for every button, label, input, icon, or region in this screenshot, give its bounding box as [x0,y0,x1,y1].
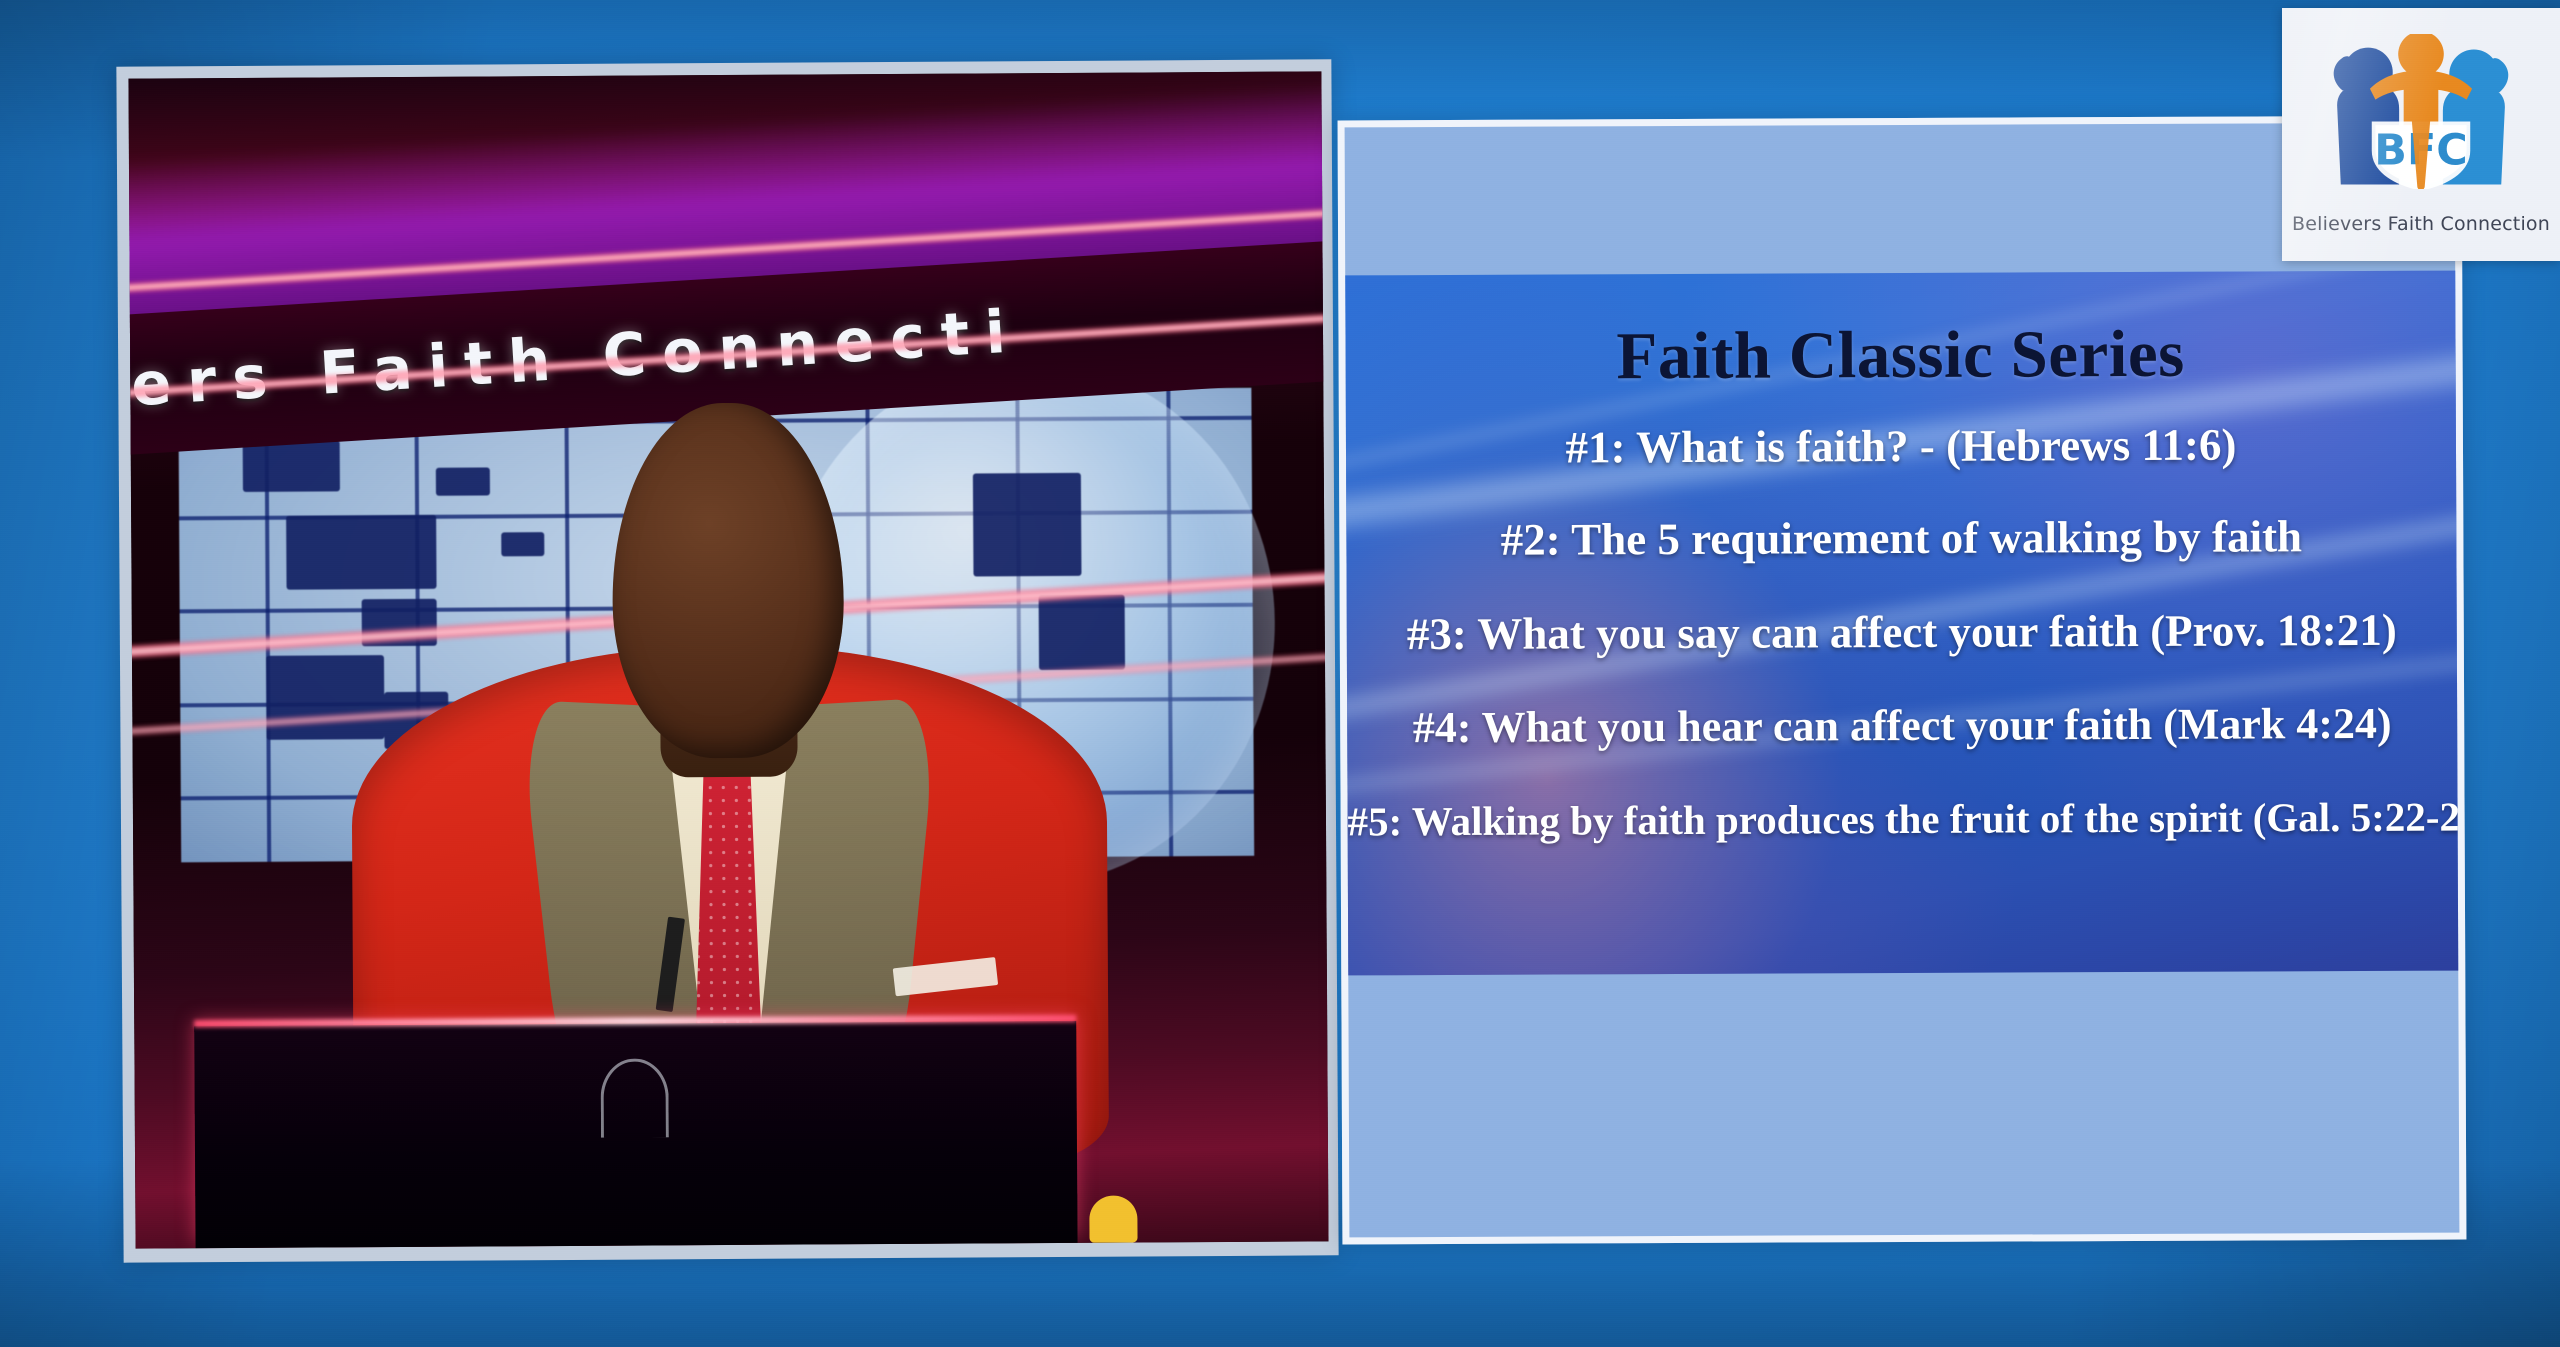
slide-bullet-1: #1: What is faith? - (Hebrews 11:6) [1346,418,2456,475]
podium-emblem [600,1059,668,1138]
three-figures-shield-icon: BFC [2282,34,2560,189]
bfc-logo-icon: BFC [2282,34,2560,189]
slide-bullet-3: #3: What you say can affect your faith (… [1347,604,2457,661]
slide-panel[interactable]: Faith Classic Series #1: What is faith? … [1338,116,2467,1245]
slide-bullet-2: #2: The 5 requirement of walking by fait… [1346,510,2456,567]
bfc-logo-caption: Believers Faith Connection [2282,213,2560,235]
podium [194,1021,1078,1249]
bfc-logo-card[interactable]: BFC Believers Faith Connection [2282,8,2560,261]
presentation-slide: Faith Classic Series #1: What is faith? … [1345,271,2458,976]
slide-bullet-list: #1: What is faith? - (Hebrews 11:6) #2: … [1346,418,2458,846]
screen-photo: ers Faith Connecti [0,0,2560,1347]
slide-bullet-5: #5: Walking by faith produces the fruit … [1348,793,2458,846]
slide-bullet-4: #4: What you hear can affect your faith … [1347,698,2457,754]
video-tile[interactable]: ers Faith Connecti [116,59,1338,1262]
presenter-head [611,402,845,759]
slide-title: Faith Classic Series [1345,315,2455,397]
stage-prop [1090,1196,1138,1243]
video-feed: ers Faith Connecti [128,71,1328,1248]
